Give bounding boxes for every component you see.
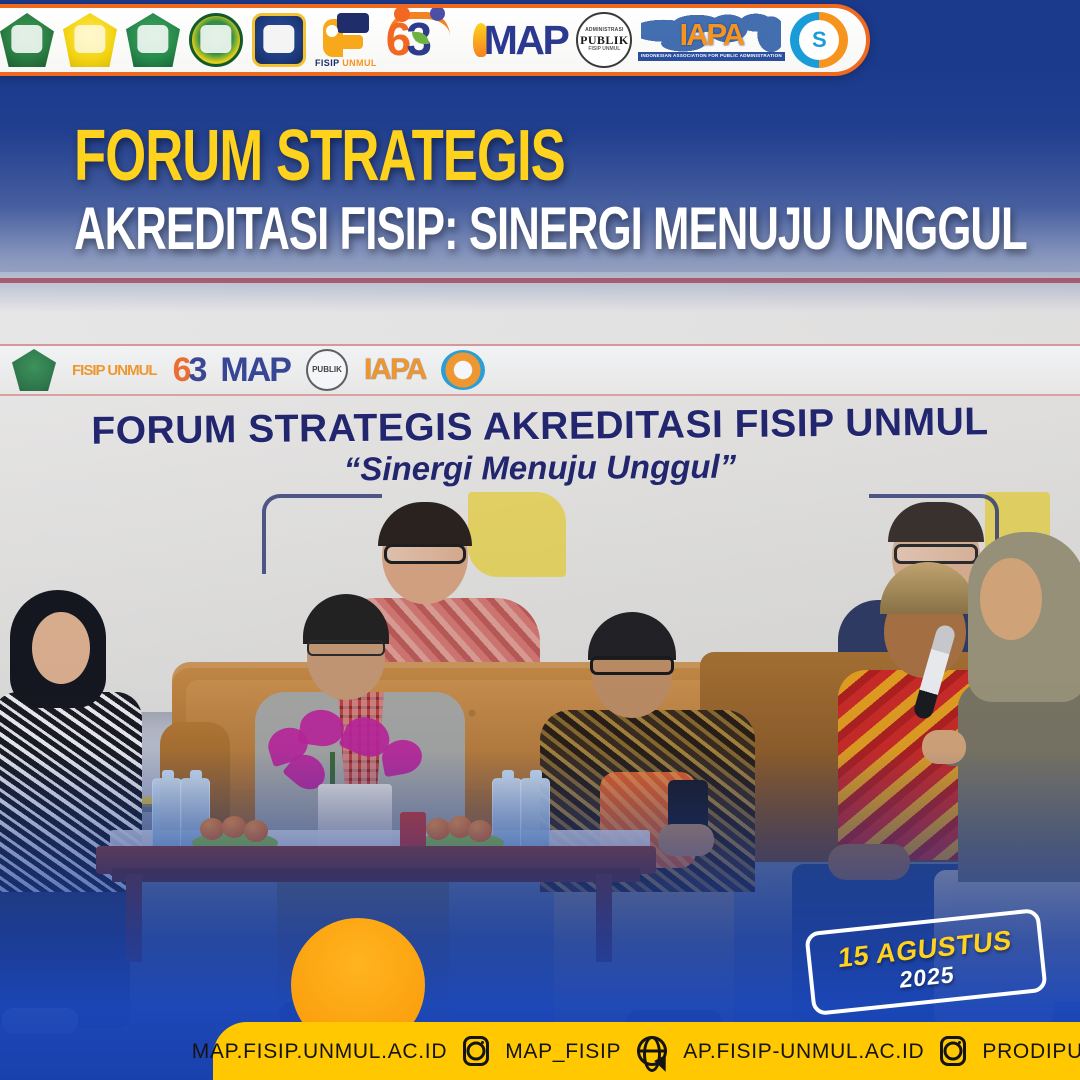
logo-iapa: IAPA INDONESIAN ASSOCIATION FOR PUBLIC A… (641, 11, 781, 69)
diktisaintek-letter: S (812, 29, 827, 51)
title-line-1: FORUM STRATEGIS (74, 120, 1017, 189)
logo-bar: FISIP UNMUL 63 MAP ADMINISTRASI PUBLIK F… (0, 4, 870, 76)
logo-untag-samarinda (63, 13, 117, 67)
footer-website-1[interactable]: MAP.FISIP.UNMUL.AC.ID (192, 1041, 447, 1062)
cursor-icon (654, 1055, 673, 1074)
globe-icon (637, 1036, 667, 1066)
logo-unikarta-tenggarong (126, 13, 180, 67)
footer-instagram-2[interactable]: PRODIPUBLIK (982, 1041, 1080, 1062)
banner-logo-iapa: IAPA (364, 355, 425, 385)
iapa-subtitle: INDONESIAN ASSOCIATION FOR PUBLIC ADMINI… (638, 52, 785, 61)
instagram-icon (940, 1036, 966, 1066)
banner-logo-map: MAP (220, 353, 290, 387)
banner-logo-university (12, 349, 56, 391)
banner-logo-publik: PUBLIK (306, 349, 348, 391)
logo-fisip-unmul: FISIP UNMUL (315, 13, 377, 68)
fisip-label: FISIP UNMUL (315, 59, 377, 68)
publik-line3: FISIP UNMUL (588, 47, 620, 52)
title-line-2: AKREDITASI FISIP: SINERGI MENUJU UNGGUL (74, 200, 1027, 258)
banner-logo-strip: FISIP UNMUL 63 MAP PUBLIK IAPA (0, 344, 1080, 396)
logo-administrasi-publik: ADMINISTRASI PUBLIK FISIP UNMUL (576, 12, 632, 68)
publik-line2: PUBLIK (580, 34, 628, 46)
footer-instagram-1[interactable]: MAP_FISIP (505, 1041, 621, 1062)
logo-map: MAP (473, 20, 568, 61)
logo-widya-gama-mahakam (189, 13, 243, 67)
map-label: MAP (484, 20, 568, 61)
instagram-icon (463, 1036, 489, 1066)
banner-logo-anniversary: 63 (173, 353, 205, 387)
logo-diktisaintek-berdampak: S (790, 12, 848, 68)
fisip-mark-icon (323, 13, 369, 57)
footer-bar: MAP.FISIP.UNMUL.AC.ID MAP_FISIP AP.FISIP… (213, 1022, 1080, 1080)
date-year: 2025 (900, 962, 956, 991)
logo-anniversary-63: 63 (386, 10, 464, 70)
banner-logo-diktisaintek (441, 350, 485, 390)
poster-title: FORUM STRATEGIS AKREDITASI FISIP: SINERG… (74, 120, 1077, 244)
footer-website-2[interactable]: AP.FISIP-UNMUL.AC.ID (683, 1041, 924, 1062)
poster-canvas: FISIP UNMUL 63 MAP PUBLIK IAPA FORUM STR… (0, 0, 1080, 1080)
logo-universitas-mulawarman (0, 13, 54, 67)
banner-logo-fisip: FISIP UNMUL (72, 363, 157, 378)
logo-universitas-kaltara (252, 13, 306, 67)
iapa-label: IAPA (679, 19, 743, 50)
banner-subtitle: “Sinergi Menuju Unggul” (0, 446, 1080, 490)
